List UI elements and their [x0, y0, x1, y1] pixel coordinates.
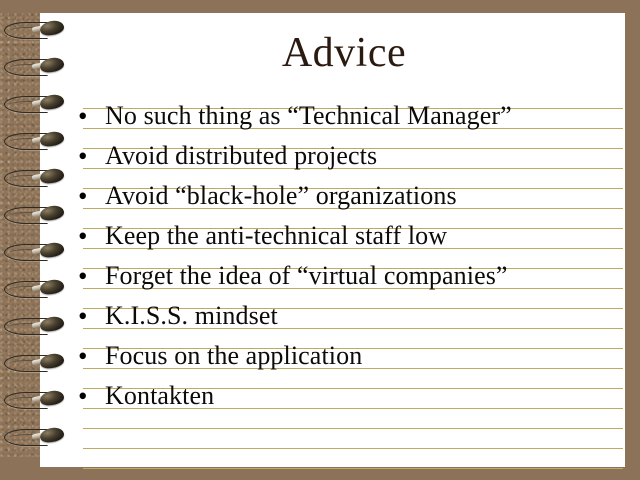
bullet-marker-icon: • — [78, 256, 100, 296]
bullet-text: Avoid “black-hole” organizations — [105, 176, 457, 216]
bullet-text: Focus on the application — [105, 336, 362, 376]
bullet-list: •No such thing as “Technical Manager”•Av… — [78, 96, 623, 416]
bullet-text: Keep the anti-technical staff low — [105, 216, 447, 256]
bullet-item: •Keep the anti-technical staff low — [78, 216, 623, 256]
bullet-item: •Forget the idea of “virtual companies” — [78, 256, 623, 296]
bullet-text: Kontakten — [105, 376, 214, 416]
bullet-text: Forget the idea of “virtual companies” — [105, 256, 508, 296]
rule-line — [83, 428, 623, 429]
rule-line — [83, 448, 623, 449]
bullet-item: •Avoid distributed projects — [78, 136, 623, 176]
bullet-marker-icon: • — [78, 216, 100, 256]
bullet-marker-icon: • — [78, 96, 100, 136]
bullet-text: Avoid distributed projects — [105, 136, 377, 176]
bullet-text: K.I.S.S. mindset — [105, 296, 278, 336]
bullet-item: •Avoid “black-hole” organizations — [78, 176, 623, 216]
bullet-marker-icon: • — [78, 176, 100, 216]
bullet-item: •Focus on the application — [78, 336, 623, 376]
bullet-text: No such thing as “Technical Manager” — [105, 96, 512, 136]
bullet-item: •Kontakten — [78, 376, 623, 416]
bullet-marker-icon: • — [78, 136, 100, 176]
binding-board-texture — [0, 13, 44, 457]
bullet-marker-icon: • — [78, 296, 100, 336]
bullet-marker-icon: • — [78, 336, 100, 376]
bullet-marker-icon: • — [78, 376, 100, 416]
bullet-item: •No such thing as “Technical Manager” — [78, 96, 623, 136]
page-title: Advice — [0, 29, 640, 77]
bullet-item: •K.I.S.S. mindset — [78, 296, 623, 336]
presentation-slide: Advice •No such thing as “Technical Mana… — [0, 0, 640, 480]
rule-line — [83, 468, 623, 469]
